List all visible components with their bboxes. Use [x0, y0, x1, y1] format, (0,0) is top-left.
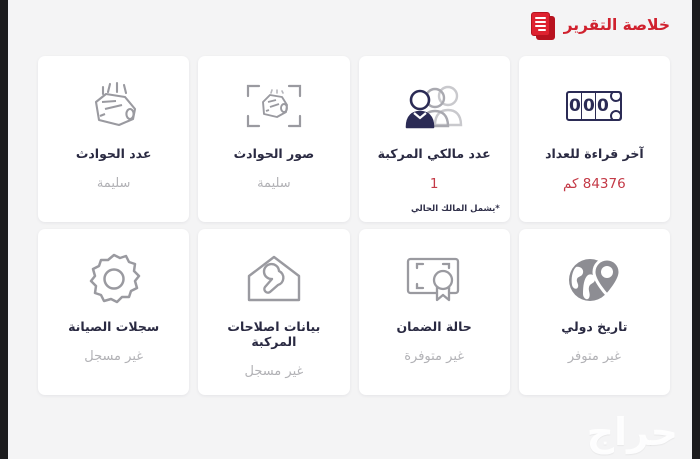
odometer-digit: 0	[581, 93, 595, 119]
report-icon-front-sheet	[531, 12, 550, 36]
card-accident-count[interactable]: عدد الحوادث سليمة	[38, 56, 189, 222]
card-label: سجلات الصيانة	[62, 319, 165, 334]
report-icon-line	[535, 17, 546, 19]
report-header: خلاصة التقرير	[531, 12, 670, 40]
card-accident-photos[interactable]: صور الحوادث سليمة	[198, 56, 349, 222]
card-label: صور الحوادث	[228, 146, 321, 161]
crashed-car-icon	[83, 78, 145, 134]
card-value: غير متوفرة	[404, 349, 464, 365]
odometer-digit: 0	[568, 93, 581, 119]
card-value: غير مسجل	[244, 364, 303, 380]
odometer-icon: 0 0 0	[566, 78, 622, 134]
card-vehicle-repair-data[interactable]: بيانات اصلاحات المركبة غير مسجل	[198, 229, 349, 395]
card-value: سليمة	[97, 176, 131, 192]
summary-cards-grid: 0 0 0 آخر قراءة للعداد 84376 كم	[38, 56, 670, 395]
card-international-history[interactable]: تاريخ دولي غير متوفر	[519, 229, 670, 395]
gear-icon	[87, 251, 141, 307]
odometer-rolling-digit	[609, 93, 620, 119]
card-value: غير متوفر	[568, 349, 621, 365]
report-icon-line	[535, 25, 546, 27]
card-footnote: *يشمل المالك الحالي	[411, 204, 500, 214]
card-label: حالة الضمان	[390, 319, 477, 334]
card-label: آخر قراءة للعداد	[539, 146, 650, 161]
card-label: عدد الحوادث	[70, 146, 158, 161]
card-value: 1	[430, 176, 439, 192]
page-title: خلاصة التقرير	[564, 18, 670, 34]
card-maintenance-records[interactable]: سجلات الصيانة غير مسجل	[38, 229, 189, 395]
warranty-certificate-icon	[404, 251, 464, 307]
card-label: عدد مالكي المركبة	[372, 146, 497, 161]
globe-location-icon	[566, 251, 622, 307]
haraj-watermark: حراج	[587, 413, 678, 451]
card-label: تاريخ دولي	[555, 319, 633, 334]
card-last-odometer-reading[interactable]: 0 0 0 آخر قراءة للعداد 84376 كم	[519, 56, 670, 222]
accident-photo-scan-icon	[244, 78, 304, 134]
card-warranty-status[interactable]: حالة الضمان غير متوفرة	[359, 229, 510, 395]
report-icon-line	[535, 21, 546, 23]
card-owner-count[interactable]: عدد مالكي المركبة 1 *يشمل المالك الحالي	[359, 56, 510, 222]
card-value: 84376 كم	[563, 176, 626, 192]
card-value: سليمة	[257, 176, 291, 192]
report-document-icon	[531, 12, 555, 40]
card-label: بيانات اصلاحات المركبة	[198, 319, 349, 349]
report-summary-screen: خلاصة التقرير 0 0 0 آخر قراءة للعداد	[8, 0, 692, 459]
odometer-digit: 0	[595, 93, 609, 119]
card-value: غير مسجل	[84, 349, 143, 365]
report-icon-line	[538, 29, 545, 31]
owners-group-icon	[403, 78, 465, 134]
house-wrench-icon	[245, 251, 303, 307]
